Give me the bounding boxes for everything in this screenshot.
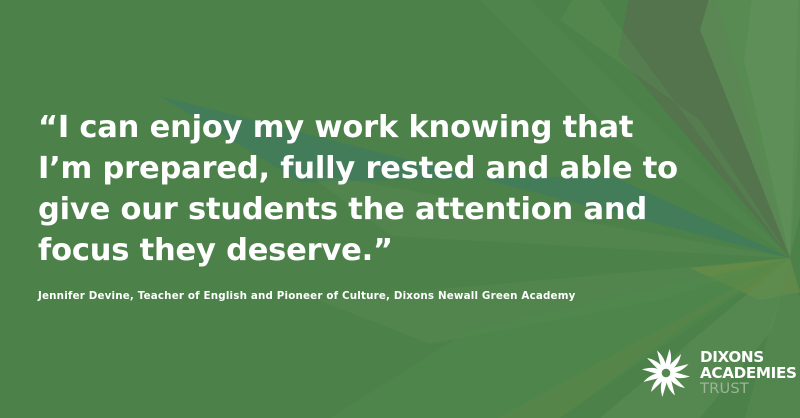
logo-text-academies: ACADEMIES — [700, 366, 797, 381]
quote-text: “I can enjoy my work knowing that I’m pr… — [38, 107, 678, 271]
logo-text-trust: TRUST — [700, 382, 797, 397]
logo-wordmark: DIXONS ACADEMIES TRUST — [700, 349, 797, 397]
logo-lockup[interactable]: DIXONS ACADEMIES TRUST — [641, 348, 797, 398]
logo-text-dixons: DIXONS — [700, 350, 797, 365]
dixons-pinwheel-mark-icon — [641, 348, 691, 398]
quote-card: “I can enjoy my work knowing that I’m pr… — [0, 0, 800, 418]
quote-attribution: Jennifer Devine, Teacher of English and … — [38, 271, 678, 303]
quote-block: “I can enjoy my work knowing that I’m pr… — [38, 107, 678, 303]
